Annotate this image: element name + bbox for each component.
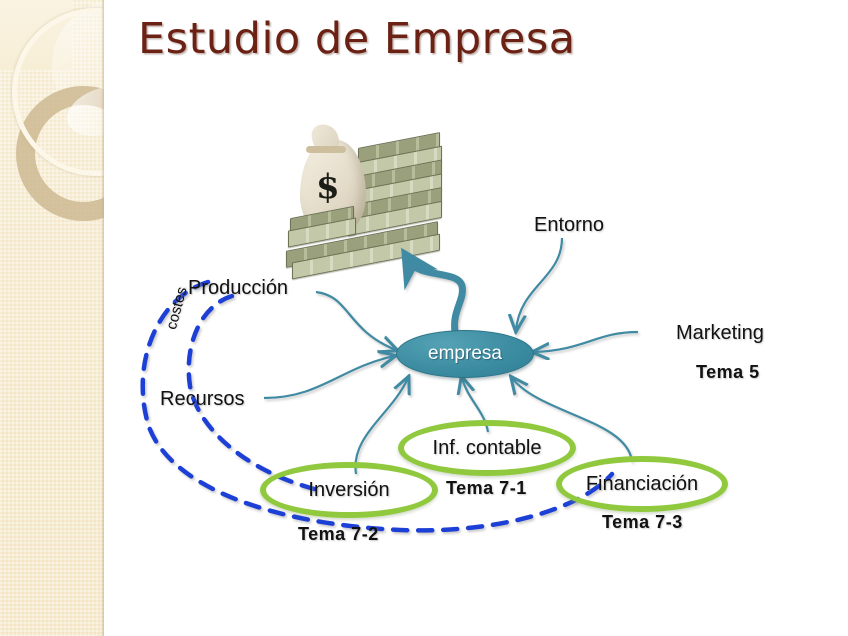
node-empresa-label: empresa — [428, 343, 502, 365]
node-inversion-label: Inversión — [308, 479, 389, 502]
label-tema-7-1: Tema 7-1 — [446, 478, 527, 499]
connector-recursos — [264, 356, 394, 398]
label-costes: costes — [163, 285, 191, 331]
label-recursos[interactable]: Recursos — [160, 388, 244, 411]
connector-produccion — [316, 292, 396, 350]
label-marketing[interactable]: Marketing — [676, 322, 764, 345]
slide-canvas: Estudio de Empresa $ — [0, 0, 848, 636]
node-financiacion-label: Financiación — [586, 473, 698, 496]
node-inf-contable[interactable]: Inf. contable — [398, 420, 576, 476]
node-inversion[interactable]: Inversión — [260, 462, 438, 518]
label-entorno[interactable]: Entorno — [534, 214, 604, 237]
money-bag-tie — [306, 146, 346, 153]
connector-entorno — [516, 238, 562, 330]
node-inf-contable-label: Inf. contable — [433, 437, 542, 460]
connector-empresa-to-money — [410, 262, 462, 332]
sidebar-edge — [101, 0, 104, 636]
money-stack-image: $ — [286, 118, 446, 268]
connector-inversion — [355, 378, 408, 474]
label-tema-7-3: Tema 7-3 — [602, 512, 683, 533]
decorative-sidebar — [0, 0, 104, 636]
node-empresa[interactable]: empresa — [396, 330, 534, 378]
dollar-sign-icon: $ — [316, 170, 340, 204]
node-financiacion[interactable]: Financiación — [556, 456, 728, 512]
label-tema-7-2: Tema 7-2 — [298, 524, 379, 545]
connector-marketing — [534, 332, 638, 352]
page-title: Estudio de Empresa — [138, 14, 576, 64]
diagram-connectors — [0, 0, 848, 636]
label-tema-5: Tema 5 — [696, 362, 760, 383]
label-produccion[interactable]: Producción — [188, 277, 288, 300]
